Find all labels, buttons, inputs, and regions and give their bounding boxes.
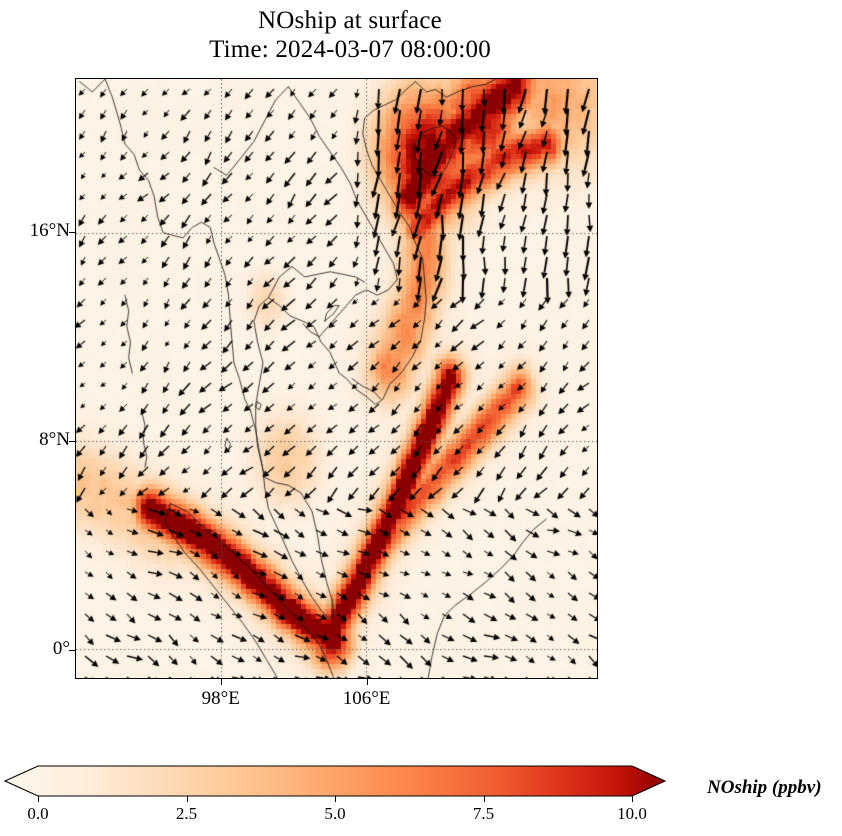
- figure-canvas: NOship at surface Time: 2024-03-07 08:00…: [0, 0, 842, 836]
- x-tick-label-1: 106°E: [297, 688, 437, 710]
- colorbar-tick-label-1: 2.5: [142, 804, 232, 824]
- colorbar-tick-mark-2: [335, 796, 336, 802]
- colorbar[interactable]: 0.02.55.07.510.0 NOship (ppbv): [0, 760, 842, 836]
- y-tick-mark-0: [69, 232, 75, 233]
- y-tick-mark-1: [69, 441, 75, 442]
- colorbar-tick-mark-0: [38, 796, 39, 802]
- colorbar-tick-label-2: 5.0: [290, 804, 380, 824]
- colorbar-tick-mark-4: [632, 796, 633, 802]
- y-tick-label-1: 8°N: [8, 429, 70, 451]
- y-axis-ticks: 16°N8°N0°: [0, 0, 70, 836]
- x-tick-label-0: 98°E: [151, 688, 291, 710]
- title-line-timestamp: Time: 2024-03-07 08:00:00: [0, 35, 700, 64]
- gridline-layer: [76, 79, 597, 678]
- y-tick-label-2: 0°: [8, 638, 70, 660]
- colorbar-gradient: [0, 760, 700, 804]
- x-tick-mark-1: [367, 679, 368, 685]
- colorbar-tick-mark-1: [187, 796, 188, 802]
- x-tick-mark-0: [221, 679, 222, 685]
- colorbar-tick-mark-3: [484, 796, 485, 802]
- colorbar-tick-label-4: 10.0: [587, 804, 677, 824]
- colorbar-tick-label-0: 0.0: [0, 804, 83, 824]
- colorbar-label: NOship (ppbv): [707, 777, 822, 799]
- page-title: NOship at surface Time: 2024-03-07 08:00…: [0, 6, 700, 64]
- y-tick-label-0: 16°N: [8, 220, 70, 242]
- colorbar-tick-label-3: 7.5: [439, 804, 529, 824]
- title-line-variable: NOship at surface: [0, 6, 700, 35]
- map-axes[interactable]: [75, 78, 598, 679]
- y-tick-mark-2: [69, 650, 75, 651]
